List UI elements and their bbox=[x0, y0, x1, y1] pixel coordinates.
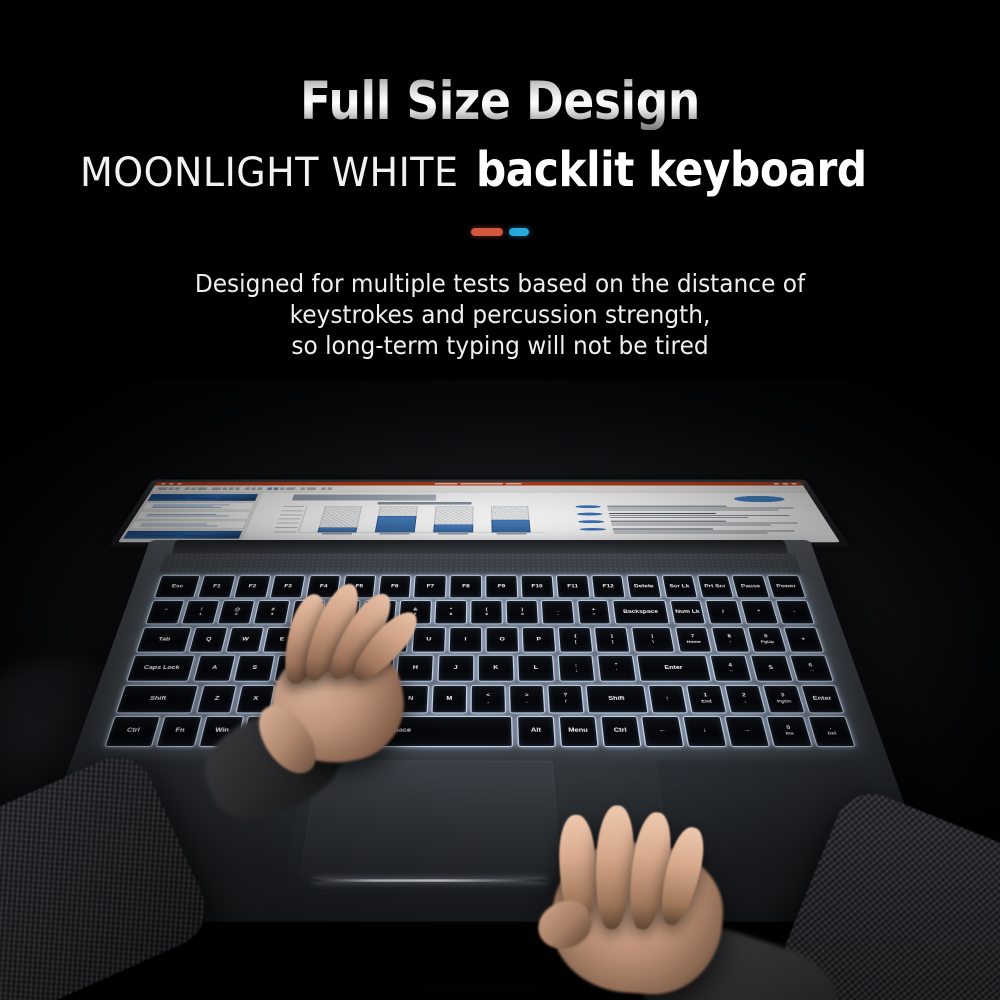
key-label-secondary: 1 bbox=[198, 613, 202, 616]
key-label-primary: F4 bbox=[319, 584, 327, 588]
key-label-secondary: 0 bbox=[521, 613, 524, 616]
key-label-secondary: 4 bbox=[306, 613, 309, 616]
list-number-badge bbox=[575, 505, 600, 508]
app-ribbon-toolbar[interactable] bbox=[150, 486, 807, 493]
key-[interactable]: ← bbox=[641, 716, 684, 746]
key-label-primary: I bbox=[464, 637, 466, 642]
chart-bar bbox=[433, 506, 473, 532]
key-label-secondary: End bbox=[701, 700, 712, 704]
key-[interactable]: >. bbox=[509, 685, 545, 713]
chart-x-axis-labels bbox=[307, 533, 541, 536]
key-tab[interactable]: Tab bbox=[136, 627, 192, 652]
slide-thumbnail[interactable] bbox=[141, 502, 255, 510]
keyboard-row-top-letter-row: TabQWERTYUIOP{[}]|\7Home8↑9PgUp+ bbox=[136, 627, 825, 652]
key-label-primary: F7 bbox=[426, 584, 434, 588]
app-body bbox=[118, 492, 840, 542]
key-i[interactable]: I bbox=[449, 627, 482, 652]
key-label-secondary: ' bbox=[616, 669, 618, 673]
key-esc[interactable]: Esc bbox=[154, 575, 201, 598]
ribbon-group-misc bbox=[321, 487, 333, 490]
key-label-secondary: - bbox=[557, 613, 559, 616]
key-label-primary: Menu bbox=[568, 728, 588, 734]
key-label-primary: Shift bbox=[149, 696, 167, 701]
key-label-primary: F3 bbox=[284, 584, 292, 588]
key-h[interactable]: H bbox=[396, 655, 434, 682]
presentation-app-window bbox=[118, 482, 840, 542]
key-label-primary: F1 bbox=[212, 584, 221, 588]
hero-text-block: Full Size Design MOONLIGHT WHITE backlit… bbox=[0, 0, 1000, 400]
key-label-primary: Delete bbox=[634, 584, 654, 588]
key-label-primary: F10 bbox=[531, 584, 542, 588]
key-label-secondary: 7 bbox=[413, 613, 416, 616]
keyboard-row-modifier-row: CtrlFnWinAltSpaceAltMenuCtrl←↓→0Ins.Del bbox=[104, 716, 855, 746]
key-y[interactable]: Y bbox=[374, 627, 409, 652]
key-[interactable]: %5 bbox=[326, 600, 361, 624]
headline-secondary: MOONLIGHT WHITE backlit keyboard bbox=[0, 146, 1000, 194]
key-[interactable]: |\ bbox=[631, 627, 676, 652]
key-label-secondary: 5 bbox=[342, 613, 345, 616]
slide-thumbnail[interactable] bbox=[128, 521, 247, 529]
key-0[interactable]: 0Ins bbox=[766, 716, 812, 746]
slide-bullet-list bbox=[575, 505, 817, 534]
key-2[interactable]: 2↓ bbox=[724, 685, 766, 713]
key-caps-lock[interactable]: Caps Lock bbox=[126, 655, 196, 682]
key-q[interactable]: Q bbox=[188, 627, 228, 652]
key-f5[interactable]: F5 bbox=[342, 575, 377, 598]
key-label-primary: W bbox=[241, 637, 249, 642]
subtitle-block: Designed for multiple tests based on the… bbox=[35, 268, 965, 361]
key-f3[interactable]: F3 bbox=[269, 575, 306, 598]
key-label-secondary: ] bbox=[611, 640, 613, 644]
list-number-badge bbox=[578, 520, 604, 523]
key-label-primary: F2 bbox=[248, 584, 257, 588]
headline-secondary-thin: MOONLIGHT WHITE bbox=[80, 153, 458, 193]
key-label-secondary: PgDn bbox=[777, 700, 792, 704]
key-label-secondary: PgUp bbox=[760, 640, 774, 644]
key-label-primary: Enter bbox=[812, 696, 832, 701]
key-t[interactable]: T bbox=[337, 627, 373, 652]
divider-bar-red bbox=[471, 228, 503, 236]
speaker-grill bbox=[159, 554, 802, 574]
keyboard-row-function-row: EscF1F2F3F4F5F6F7F8F9F10F11F12DeleteScr … bbox=[154, 575, 806, 598]
key-label-secondary: Home bbox=[686, 640, 701, 644]
key-label-primary: D bbox=[292, 666, 298, 671]
key-scr-lk[interactable]: Scr Lk bbox=[661, 575, 698, 598]
hinge-strip bbox=[172, 540, 788, 554]
key-label-primary: Esc bbox=[171, 584, 184, 588]
key-[interactable]: ~` bbox=[145, 600, 185, 624]
key-f2[interactable]: F2 bbox=[233, 575, 270, 598]
chart-bar bbox=[375, 506, 418, 532]
key-[interactable]: ↑ bbox=[648, 685, 688, 713]
key-label-secondary: / bbox=[565, 700, 567, 704]
key-label-secondary: [ bbox=[575, 640, 577, 644]
close-icon bbox=[791, 483, 797, 484]
key-ctrl[interactable]: Ctrl bbox=[600, 716, 642, 746]
key-label-primary: Scr Lk bbox=[669, 584, 690, 588]
key-[interactable]: ^6 bbox=[362, 600, 397, 624]
key-label-primary: Pause bbox=[740, 584, 760, 588]
key-4[interactable]: 4← bbox=[710, 655, 753, 682]
key-label-primary: P bbox=[536, 637, 541, 642]
key-label-secondary: Del bbox=[827, 732, 837, 736]
key-f6[interactable]: F6 bbox=[378, 575, 412, 598]
key-label-secondary: ↓ bbox=[744, 700, 748, 704]
key-label-primary: Y bbox=[390, 637, 395, 642]
key-[interactable]: }] bbox=[594, 627, 630, 652]
key-[interactable]: #3 bbox=[253, 600, 290, 624]
key-[interactable]: * bbox=[740, 600, 779, 624]
ribbon-group-slides bbox=[184, 487, 207, 490]
key-label-primary: K bbox=[493, 666, 498, 671]
key-[interactable]: $4 bbox=[290, 600, 326, 624]
key-win[interactable]: Win bbox=[199, 716, 244, 746]
key-label-primary: X bbox=[253, 696, 259, 701]
key-label-primary: Enter bbox=[664, 666, 683, 671]
key-label-primary: N bbox=[408, 696, 414, 701]
key-label-primary: Alt bbox=[259, 728, 270, 734]
ribbon-group-font bbox=[211, 487, 240, 490]
key-g[interactable]: G bbox=[355, 655, 394, 682]
key-label-primary: F8 bbox=[462, 584, 470, 588]
key-[interactable]: → bbox=[725, 716, 770, 746]
product-photo-scene: EscF1F2F3F4F5F6F7F8F9F10F11F12DeleteScr … bbox=[0, 380, 1000, 1000]
key-label-primary: ← bbox=[658, 728, 666, 734]
titlebar-icon bbox=[161, 483, 166, 484]
key-j[interactable]: J bbox=[437, 655, 474, 682]
key-label-primary: Num Lk bbox=[675, 610, 700, 615]
key-w[interactable]: W bbox=[226, 627, 265, 652]
key-label-primary: R bbox=[316, 637, 322, 642]
key-label-primary: ↓ bbox=[702, 728, 707, 734]
key-[interactable]: / bbox=[705, 600, 743, 624]
key-[interactable]: ↓ bbox=[683, 716, 727, 746]
key-label-primary: A bbox=[211, 666, 217, 671]
key-s[interactable]: S bbox=[233, 655, 275, 682]
key-label-primary: F bbox=[332, 666, 337, 671]
key-label-primary: C bbox=[291, 696, 297, 701]
key-e[interactable]: E bbox=[263, 627, 301, 652]
list-item bbox=[575, 505, 803, 511]
key-f9[interactable]: F9 bbox=[485, 575, 518, 598]
key-fn[interactable]: Fn bbox=[156, 716, 202, 746]
keyboard-row-bottom-letter-row: ShiftZXCVBNM<,>.?/Shift↑1End2↓3PgDnEnter bbox=[115, 685, 844, 713]
key-f1[interactable]: F1 bbox=[197, 575, 235, 598]
key-x[interactable]: X bbox=[235, 685, 276, 713]
key-label-secondary: ← bbox=[728, 669, 734, 673]
key-label-primary: Shift bbox=[608, 696, 625, 701]
key-label-primary: F11 bbox=[567, 584, 578, 588]
key-label-primary: H bbox=[413, 666, 418, 671]
key-label-secondary: , bbox=[487, 700, 489, 704]
key-label-primary: → bbox=[743, 728, 752, 734]
key-m[interactable]: M bbox=[431, 685, 467, 713]
key-[interactable]: _- bbox=[541, 600, 575, 624]
headline-secondary-bold: backlit keyboard bbox=[476, 146, 867, 194]
key-label-secondary: ` bbox=[163, 613, 166, 616]
key-ctrl[interactable]: Ctrl bbox=[104, 716, 160, 746]
key-l[interactable]: L bbox=[517, 655, 555, 682]
key-f8[interactable]: F8 bbox=[450, 575, 482, 598]
subtitle-line-1: Designed for multiple tests based on the… bbox=[35, 268, 965, 299]
headline-primary: Full Size Design bbox=[70, 74, 930, 130]
key-label-primary: Backspace bbox=[623, 610, 659, 615]
list-item bbox=[578, 520, 812, 527]
subtitle-line-2: keystrokes and percussion strength, bbox=[35, 299, 965, 330]
key-[interactable]: += bbox=[577, 600, 612, 624]
key-[interactable]: "' bbox=[597, 655, 637, 682]
key-prt-scr[interactable]: Prt Scr bbox=[696, 575, 734, 598]
chart-bar bbox=[491, 506, 531, 532]
ribbon-group-clipboard bbox=[157, 487, 180, 490]
key-label-primary: Space bbox=[389, 728, 411, 734]
key-label-primary: F9 bbox=[498, 584, 506, 588]
key-f11[interactable]: F11 bbox=[556, 575, 590, 598]
key-alt[interactable]: Alt bbox=[516, 716, 556, 746]
ribbon-group-paragraph bbox=[244, 487, 262, 490]
key-label-secondary: . bbox=[526, 700, 528, 704]
ribbon-group-editing bbox=[300, 487, 316, 490]
slide-thumbnail[interactable] bbox=[122, 531, 243, 540]
key-label-primary: J bbox=[454, 666, 458, 671]
key-[interactable]: <, bbox=[471, 685, 506, 713]
key-label-primary: + bbox=[801, 637, 807, 642]
key-label-primary: Power bbox=[776, 584, 797, 588]
key-label-primary: Z bbox=[214, 696, 220, 701]
key-label-primary: U bbox=[426, 637, 431, 642]
key-v[interactable]: V bbox=[314, 685, 353, 713]
key-label-secondary: 9 bbox=[485, 613, 488, 616]
key-enter[interactable]: Enter bbox=[636, 655, 711, 682]
key-label-secondary: Ins bbox=[785, 732, 794, 736]
list-number-badge bbox=[580, 528, 606, 531]
backlit-keyboard[interactable]: EscF1F2F3F4F5F6F7F8F9F10F11F12DeleteScr … bbox=[104, 575, 855, 746]
slide-thumbnail[interactable] bbox=[135, 511, 251, 519]
key-label-primary: F6 bbox=[391, 584, 399, 588]
key-d[interactable]: D bbox=[274, 655, 315, 682]
screen-bezel bbox=[118, 482, 840, 542]
key-n[interactable]: N bbox=[392, 685, 429, 713]
key-label-primary: - bbox=[793, 610, 797, 615]
chart-bar bbox=[317, 506, 362, 532]
key-label-primary: Alt bbox=[531, 728, 541, 734]
key-label-secondary: → bbox=[809, 669, 815, 673]
key-7[interactable]: 7Home bbox=[674, 627, 712, 652]
key-[interactable]: *8 bbox=[434, 600, 467, 624]
titlebar-document-title bbox=[185, 483, 771, 484]
key-label-primary: O bbox=[499, 637, 504, 642]
key-label-primary: Prt Scr bbox=[704, 584, 726, 588]
key-label-primary: G bbox=[372, 666, 378, 671]
key-label-primary: Ctrl bbox=[614, 728, 628, 734]
key-label-primary: T bbox=[353, 637, 358, 642]
key-label-primary: Win bbox=[214, 728, 229, 734]
key-[interactable]: {[ bbox=[558, 627, 593, 652]
key-backspace[interactable]: Backspace bbox=[612, 600, 670, 624]
key-5[interactable]: 5 bbox=[750, 655, 794, 682]
key-label-primary: Fn bbox=[174, 728, 185, 734]
key-8[interactable]: 8↑ bbox=[711, 627, 750, 652]
key-label-primary: S bbox=[252, 666, 258, 671]
key-label-secondary: = bbox=[592, 613, 595, 616]
key-alt[interactable]: Alt bbox=[242, 716, 286, 746]
subtitle-line-3: so long-term typing will not be tired bbox=[35, 330, 965, 361]
slide-canvas[interactable] bbox=[241, 492, 840, 542]
slide-decorative-oval bbox=[733, 496, 786, 502]
key-shift[interactable]: Shift bbox=[115, 685, 199, 713]
key-label-primary: M bbox=[446, 696, 452, 701]
key-label-primary: B bbox=[369, 696, 375, 701]
keyboard-row-home-row: Caps LockASDFGHJKL:;"'Enter4←56→ bbox=[126, 655, 834, 682]
key-label-primary: 5 bbox=[768, 666, 773, 671]
key-[interactable]: :; bbox=[557, 655, 596, 682]
key-[interactable]: @2 bbox=[217, 600, 255, 624]
key-label-primary: / bbox=[722, 610, 725, 615]
key-label-secondary: 6 bbox=[378, 613, 381, 616]
key-label-primary: Ctrl bbox=[126, 728, 141, 734]
key-o[interactable]: O bbox=[486, 627, 520, 652]
list-number-badge bbox=[577, 513, 603, 516]
key-1[interactable]: 1End bbox=[686, 685, 727, 713]
slide-bar-chart bbox=[296, 506, 545, 537]
key-[interactable]: (9 bbox=[470, 600, 502, 624]
divider-bar-blue bbox=[509, 228, 529, 236]
key-f7[interactable]: F7 bbox=[414, 575, 447, 598]
trackpad[interactable] bbox=[299, 761, 561, 880]
accent-divider bbox=[0, 225, 1000, 239]
slide-title-text bbox=[292, 495, 436, 501]
key-f12[interactable]: F12 bbox=[591, 575, 626, 598]
key-num-lk[interactable]: Num Lk bbox=[669, 600, 706, 624]
key-z[interactable]: Z bbox=[196, 685, 238, 713]
key-9[interactable]: 9PgUp bbox=[747, 627, 787, 652]
key-f10[interactable]: F10 bbox=[521, 575, 554, 598]
window-controls[interactable] bbox=[773, 483, 797, 484]
key-label-secondary: 2 bbox=[234, 613, 238, 616]
key-delete[interactable]: Delete bbox=[626, 575, 662, 598]
key-label-primary: L bbox=[534, 666, 539, 671]
key-label-secondary: 8 bbox=[449, 613, 452, 616]
key-menu[interactable]: Menu bbox=[558, 716, 599, 746]
chart-bars bbox=[308, 506, 540, 532]
key-space[interactable]: Space bbox=[285, 716, 514, 746]
key-label-primary: * bbox=[757, 610, 761, 615]
slide-thumbnail[interactable] bbox=[147, 494, 259, 501]
key-[interactable]: &7 bbox=[398, 600, 432, 624]
ribbon-group-drawing bbox=[267, 487, 296, 490]
chart-title bbox=[378, 502, 472, 504]
key-f4[interactable]: F4 bbox=[305, 575, 341, 598]
key-label-primary: Q bbox=[205, 637, 212, 642]
key-c[interactable]: C bbox=[274, 685, 314, 713]
key-pause[interactable]: Pause bbox=[732, 575, 770, 598]
titlebar-icon bbox=[177, 483, 182, 484]
key-shift[interactable]: Shift bbox=[586, 685, 649, 713]
list-item bbox=[577, 513, 808, 519]
key-p[interactable]: P bbox=[522, 627, 556, 652]
key-f[interactable]: F bbox=[315, 655, 355, 682]
key-[interactable]: !1 bbox=[181, 600, 220, 624]
key-k[interactable]: K bbox=[478, 655, 515, 682]
key-u[interactable]: U bbox=[411, 627, 445, 652]
key-label-secondary: \ bbox=[652, 640, 654, 644]
minimize-icon bbox=[773, 483, 779, 484]
key-[interactable]: )0 bbox=[506, 600, 539, 624]
key-label-primary: ↑ bbox=[665, 696, 670, 701]
key-label-primary: E bbox=[279, 637, 285, 642]
key-b[interactable]: B bbox=[353, 685, 391, 713]
key-3[interactable]: 3PgDn bbox=[762, 685, 805, 713]
key-label-primary: V bbox=[330, 696, 336, 701]
laptop-lid bbox=[108, 479, 850, 547]
key-r[interactable]: R bbox=[300, 627, 337, 652]
key-label-secondary: 3 bbox=[270, 613, 273, 616]
key-label-secondary: ↑ bbox=[729, 640, 732, 644]
key-label-primary: F5 bbox=[355, 584, 363, 588]
maximize-icon bbox=[782, 483, 788, 484]
key-label-primary: F12 bbox=[602, 584, 614, 588]
titlebar-icon bbox=[169, 483, 174, 484]
keyboard-row-number-row: ~`!1@2#3$4%5^6&7*8(9)0_-+=BackspaceNum L… bbox=[145, 600, 815, 624]
list-item bbox=[580, 528, 818, 535]
key-a[interactable]: A bbox=[193, 655, 236, 682]
key-label-primary: Caps Lock bbox=[143, 666, 180, 671]
key-label-primary: Tab bbox=[158, 637, 171, 642]
key-label-secondary: ; bbox=[575, 669, 577, 673]
key-[interactable]: ?/ bbox=[547, 685, 584, 713]
